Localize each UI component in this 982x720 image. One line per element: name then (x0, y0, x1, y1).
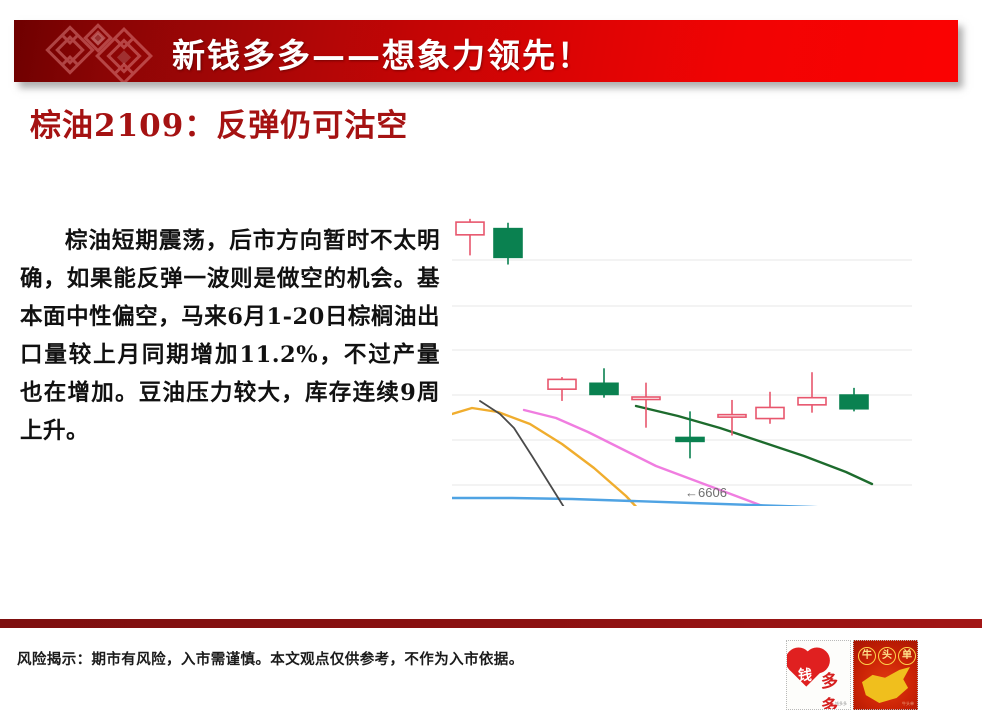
stamp-qianduoduo: 钱 多多 钱多多 (786, 640, 851, 710)
stamp-char-1: 牛 (858, 647, 876, 665)
chart-canvas: ←6606 (452, 196, 912, 506)
chart-moving-average-lines (452, 401, 876, 506)
slide-root: 新钱多多——想象力领先！ 棕油2109：反弹仍可沽空 棕油短期震荡，后市方向暂时… (0, 0, 982, 720)
header-title: 新钱多多——想象力领先！ (172, 29, 592, 77)
stamp-char-2: 头 (878, 647, 896, 665)
footer-disclaimer: 风险揭示：期市有风险，入市需谨慎。本文观点仅供参考，不作为入市依据。 (17, 648, 524, 669)
stamp-char-3: 单 (898, 647, 916, 665)
footer-stamps: 钱 多多 钱多多 牛 头 单 牛头单 (786, 640, 918, 710)
stamp-right-tiny: 牛头单 (902, 701, 914, 707)
article-title: 棕油2109：反弹仍可沽空 (30, 105, 430, 147)
candlestick-chart[interactable]: ←6606 (452, 196, 912, 506)
footer-divider (0, 619, 982, 628)
bull-icon (862, 667, 910, 703)
chart-gridlines (452, 260, 912, 485)
stamp-left-char: 钱 (798, 665, 812, 685)
svg-text:←6606: ←6606 (685, 485, 727, 500)
chart-price-marker: ←6606 (685, 485, 727, 500)
stamp-niutoudan: 牛 头 单 牛头单 (853, 640, 918, 710)
article-body: 棕油短期震荡，后市方向暂时不太明确，如果能反弹一波则是做空的机会。基本面中性偏空… (20, 222, 440, 450)
diamond-knot-emblem-icon (36, 22, 164, 82)
header-banner: 新钱多多——想象力领先！ (14, 20, 958, 82)
chart-candles (456, 219, 868, 459)
stamp-right-chars: 牛 头 单 (858, 647, 916, 665)
stamp-left-name: 多多 (821, 667, 850, 710)
